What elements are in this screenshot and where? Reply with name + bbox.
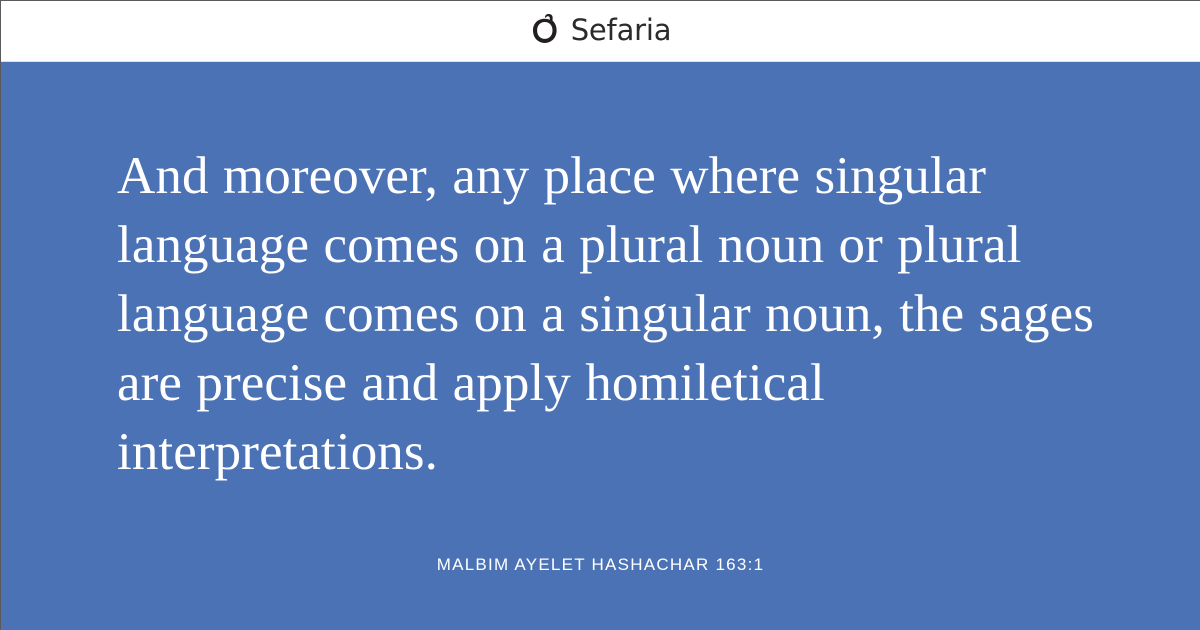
source-citation[interactable]: MALBIM AYELET HASHACHAR 163:1 bbox=[1, 556, 1200, 573]
quote-block: And moreover, any place where singular l… bbox=[117, 142, 1096, 487]
quote-text: And moreover, any place where singular l… bbox=[117, 142, 1096, 487]
sefaria-wordmark: Sefaria bbox=[571, 16, 672, 45]
site-header: Sefaria bbox=[1, 1, 1200, 62]
card-body: And moreover, any place where singular l… bbox=[1, 62, 1200, 630]
sefaria-samekh-logo-icon bbox=[530, 12, 560, 48]
sefaria-brand-link[interactable]: Sefaria bbox=[530, 12, 672, 48]
sefaria-quote-card: Sefaria And moreover, any place where si… bbox=[0, 0, 1200, 630]
